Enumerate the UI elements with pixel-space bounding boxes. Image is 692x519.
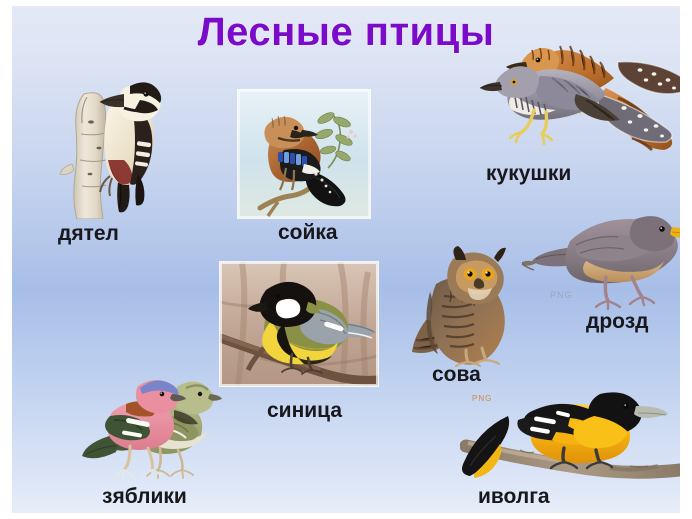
png-watermark-thrush: PNG <box>550 290 573 300</box>
bird-caption-cuckoos: кукушки <box>486 162 571 186</box>
bird-caption-tit: синица <box>267 399 342 423</box>
bird-image-cuckoos <box>478 32 680 167</box>
bird-image-oriole <box>460 388 680 488</box>
bird-caption-chaffinches: зяблики <box>102 485 187 509</box>
bird-image-tit <box>220 262 378 386</box>
bird-image-chaffinches <box>82 370 222 490</box>
bird-caption-woodpecker: дятел <box>58 222 119 246</box>
bird-image-jay <box>238 90 370 218</box>
bird-caption-owl: сова <box>432 363 481 387</box>
slide-canvas: Лесные птицы <box>12 6 680 513</box>
bird-caption-oriole: иволга <box>478 485 550 509</box>
png-watermark-oriole: PNG <box>472 394 492 403</box>
bird-caption-jay: сойка <box>278 221 338 245</box>
bird-image-owl <box>410 244 538 369</box>
bird-image-woodpecker <box>54 64 184 219</box>
bird-caption-thrush: дрозд <box>586 310 648 334</box>
